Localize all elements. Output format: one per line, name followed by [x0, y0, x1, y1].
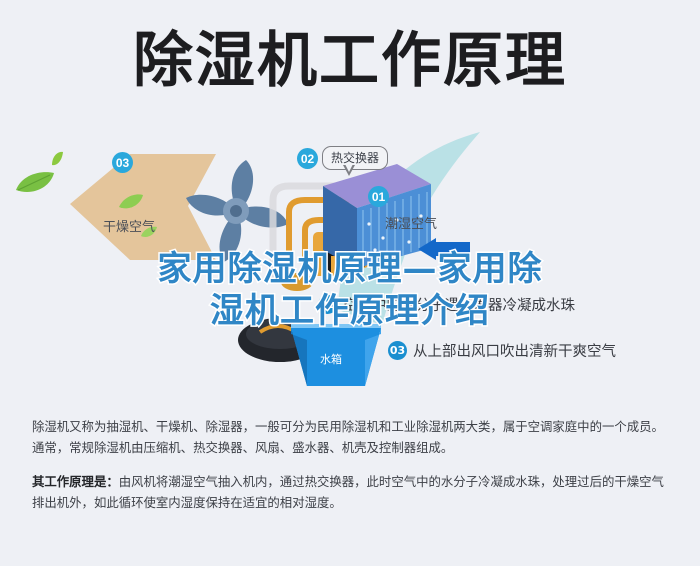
- article-body: 除湿机又称为抽湿机、干燥机、除湿器，一般可分为民用除湿机和工业除湿机两大类，属于…: [32, 416, 670, 513]
- label-water-tank: 水箱: [320, 351, 342, 367]
- body-paragraph-1: 除湿机又称为抽湿机、干燥机、除湿器，一般可分为民用除湿机和工业除湿机两大类，属于…: [32, 416, 670, 458]
- step-badge-inline-03: 03: [388, 341, 407, 360]
- overlay-headline-line-1: 家用除湿机原理—家用除: [0, 248, 700, 290]
- step-badge-02: 02: [297, 148, 318, 169]
- leaf-icon: [118, 193, 144, 211]
- step-badge-01: 01: [368, 186, 389, 207]
- page-title-band: 除湿机工作原理: [0, 18, 700, 104]
- page-root: 除湿机工作原理: [0, 0, 700, 566]
- page-title: 除湿机工作原理: [133, 31, 567, 91]
- body-paragraph-2-rest: 由风机将潮湿空气抽入机内，通过热交换器，此时空气中的水分子冷凝成水珠，处理过后的…: [32, 474, 664, 510]
- callout-tail-icon: [343, 165, 355, 176]
- overlay-headline-line-2: 湿机工作原理介绍: [0, 290, 700, 332]
- body-paragraph-2-lead: 其工作原理是：: [32, 474, 119, 489]
- diagram-step-03-text: 从上部出风口吹出清新干爽空气: [413, 340, 616, 361]
- label-dry-air: 干燥空气: [103, 216, 155, 235]
- overlay-headline: 家用除湿机原理—家用除 湿机工作原理介绍: [0, 248, 700, 332]
- step-badge-03: 03: [112, 152, 133, 173]
- leaf-icon: [50, 151, 64, 167]
- body-paragraph-2: 其工作原理是：由风机将潮湿空气抽入机内，通过热交换器，此时空气中的水分子冷凝成水…: [32, 471, 670, 513]
- leaf-icon: [14, 170, 56, 196]
- label-humid-air: 潮湿空气: [385, 213, 437, 232]
- heat-exchanger-callout: 热交换器: [322, 146, 388, 170]
- diagram-step-03: 03 从上部出风口吹出清新干爽空气: [388, 340, 616, 361]
